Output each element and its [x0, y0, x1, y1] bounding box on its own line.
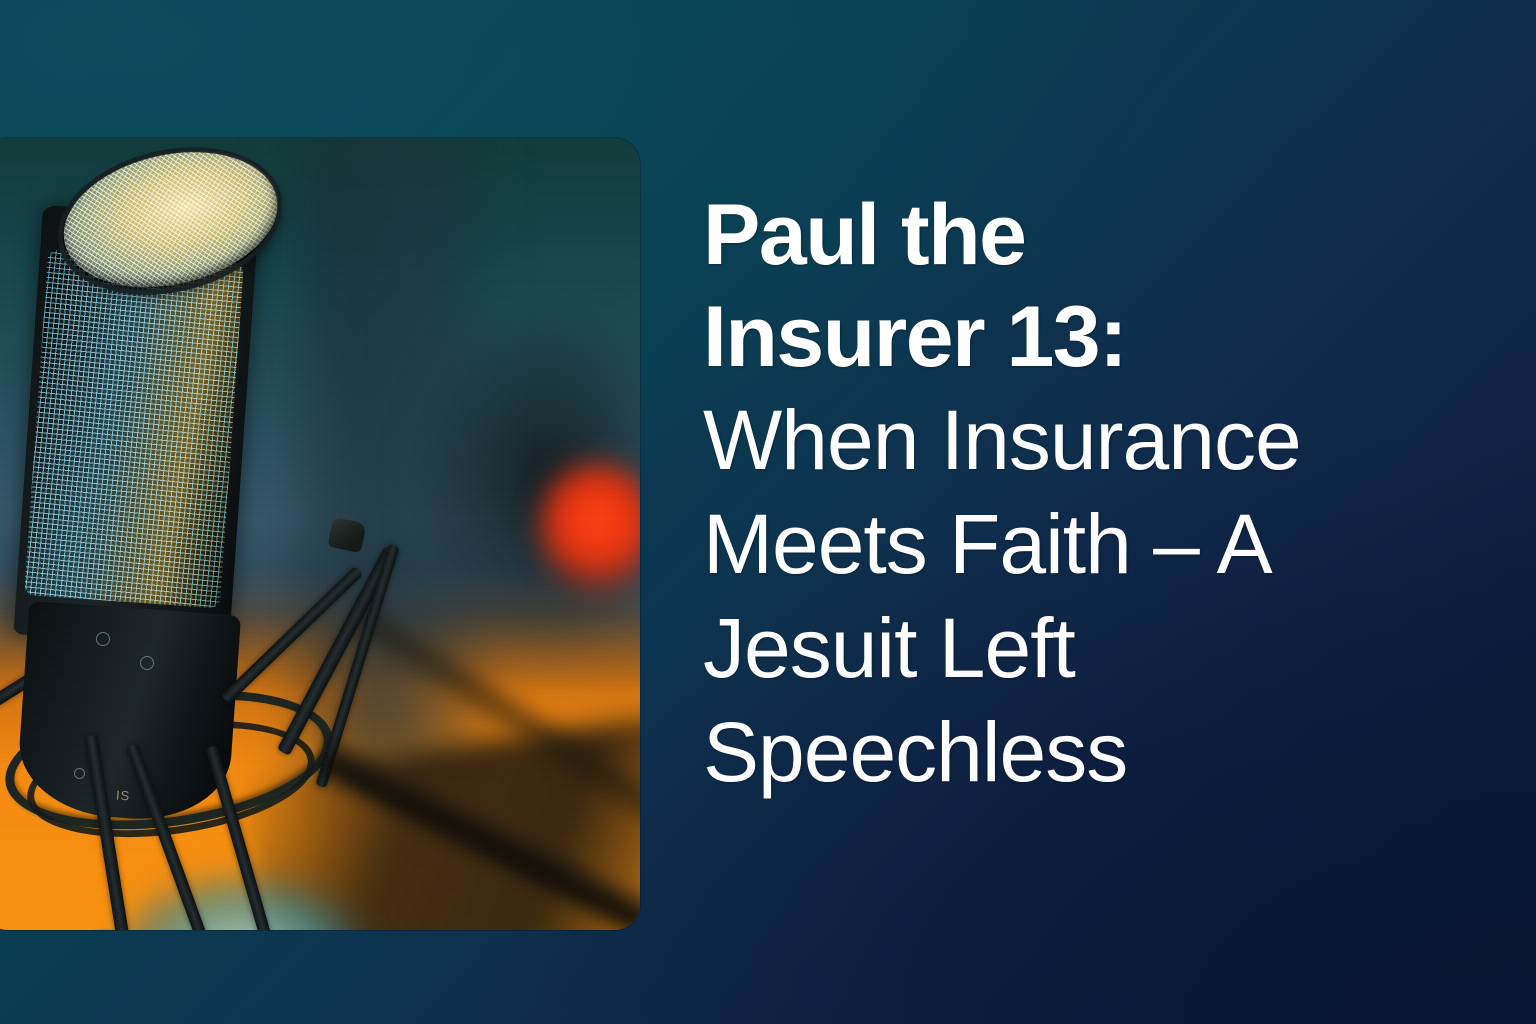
episode-subtitle: When Insurance Meets Faith – A Jesuit Le… — [703, 388, 1403, 804]
episode-text-block: Paul the Insurer 13: When Insurance Meet… — [703, 184, 1423, 804]
episode-cover-canvas: IS Paul the Insurer 13: When Insurance M… — [0, 0, 1536, 1024]
shock-mount-knuckle — [327, 517, 366, 553]
mic-control-dot — [74, 768, 85, 779]
mic-body-label: IS — [115, 788, 130, 804]
mic-control-dot — [140, 656, 154, 670]
mic-grille-mesh — [24, 250, 244, 609]
episode-title: Paul the Insurer 13: — [703, 184, 1263, 388]
microphone-photo: IS — [0, 138, 640, 930]
stand-blue-detail — [91, 929, 113, 930]
mic-control-dot — [96, 632, 110, 646]
microphone-illustration: IS — [0, 138, 640, 930]
